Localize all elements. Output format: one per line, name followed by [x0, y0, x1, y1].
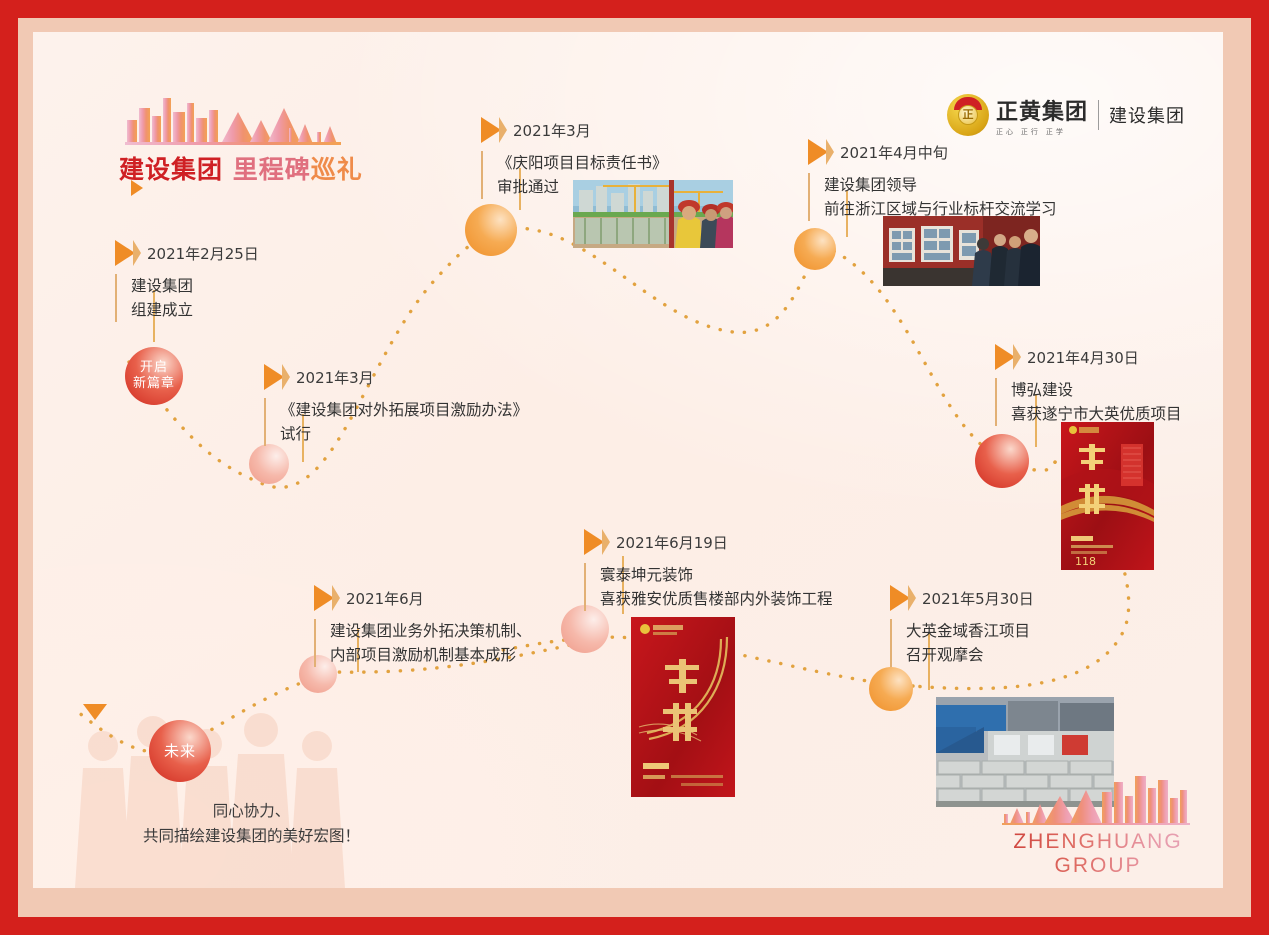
flag-icon [584, 529, 604, 555]
milestone-founding: 2021年2月25日 建设集团 组建成立 [115, 240, 259, 322]
milestone-body: 建设集团业务外拓决策机制、 内部项目激励机制基本成形 [314, 619, 532, 667]
milestone-line-1: 建设集团业务外拓决策机制、 [330, 619, 532, 643]
milestone-date: 2021年5月30日 [922, 588, 1034, 609]
milestone-bohong-daying: 2021年4月30日 博弘建设 喜获遂宁市大英优质项目 [995, 344, 1182, 426]
crowd-silhouette [61, 688, 381, 888]
footer-skyline-icon [998, 770, 1198, 828]
milestone-line-1: 大英金域香江项目 [906, 619, 1034, 643]
milestone-daying-jinyu: 2021年5月30日 大英金域香江项目 召开观摩会 [890, 585, 1034, 667]
brand-name: 正黄集团 [996, 94, 1088, 126]
node-daying-jinyu [869, 667, 913, 711]
milestone-line-1: 寰泰坤元装饰 [600, 563, 833, 587]
chevron-icon [826, 139, 834, 165]
start-node-label: 开启 新篇章 [125, 347, 183, 405]
node-bohong-daying [975, 434, 1029, 488]
milestone-date: 2021年2月25日 [147, 243, 259, 264]
closing-text: 同心协力、 共同描绘建设集团的美好宏图！ [143, 799, 360, 849]
milestone-date-row: 2021年3月 [264, 364, 528, 390]
flag-icon [995, 344, 1015, 370]
milestone-date-row: 2021年4月30日 [995, 344, 1182, 370]
flag-icon [115, 240, 135, 266]
timeline-end-arrow-icon [83, 704, 107, 720]
milestone-body: 建设集团领导 前往浙江区域与行业标杆交流学习 [808, 173, 1057, 221]
footer-logo: ZHENGHUANG GROUP [983, 770, 1213, 878]
construction-site-photo [573, 180, 733, 248]
milestone-line-2: 喜获雅安优质售楼部内外装饰工程 [600, 587, 833, 611]
milestone-mechanism-formed: 2021年6月 建设集团业务外拓决策机制、 内部项目激励机制基本成形 [314, 585, 532, 667]
milestone-date: 2021年6月19日 [616, 532, 728, 553]
closing-line-1: 同心协力、 [143, 799, 360, 824]
skyline-icon [121, 94, 346, 146]
flag-icon [314, 585, 334, 611]
milestone-date-row: 2021年6月19日 [584, 529, 833, 555]
title-arrow-icon [131, 180, 143, 196]
node-incentive-policy [249, 444, 289, 484]
footer-brand-name: ZHENGHUANG GROUP [983, 830, 1213, 878]
milestone-line-1: 建设集团 [131, 274, 259, 298]
chevron-icon [282, 364, 290, 390]
chevron-icon [499, 117, 507, 143]
milestone-date-row: 2021年6月 [314, 585, 532, 611]
start-node: 开启 新篇章 [125, 347, 183, 405]
milestone-date: 2021年4月中旬 [840, 142, 948, 163]
chevron-icon [908, 585, 916, 611]
flag-icon [890, 585, 910, 611]
milestone-date-row: 2021年2月25日 [115, 240, 259, 266]
brand-logo: 正 正黄集团 正心 正行 正学 建设集团 [947, 92, 1185, 138]
milestone-date: 2021年6月 [346, 588, 424, 609]
milestone-date: 2021年4月30日 [1027, 347, 1139, 368]
start-node-line2: 新篇章 [133, 376, 175, 392]
node-huantai-yaan [561, 605, 609, 653]
milestone-body: 大英金域香江项目 召开观摩会 [890, 619, 1034, 667]
milestone-date: 2021年3月 [513, 120, 591, 141]
milestone-line-1: 建设集团领导 [824, 173, 1057, 197]
chevron-icon [1013, 344, 1021, 370]
seal-char: 正 [958, 105, 978, 125]
xibao-poster-red: 118 [1061, 422, 1154, 570]
seal-icon: 正 [947, 94, 989, 136]
milestone-body: 博弘建设 喜获遂宁市大英优质项目 [995, 378, 1182, 426]
node-zhejiang-visit [794, 228, 836, 270]
milestone-date-row: 2021年5月30日 [890, 585, 1034, 611]
title-part-2: 里程碑 [223, 155, 311, 184]
milestone-line-1: 《庆阳项目目标责任书》 [497, 151, 668, 175]
milestone-body: 寰泰坤元装饰 喜获雅安优质售楼部内外装饰工程 [584, 563, 833, 611]
xibao-poster-gold [631, 617, 735, 797]
milestone-huantai-yaan: 2021年6月19日 寰泰坤元装饰 喜获雅安优质售楼部内外装饰工程 [584, 529, 833, 611]
brand-divider [1098, 100, 1099, 130]
milestone-date-row: 2021年4月中旬 [808, 139, 1057, 165]
exhibition-visit-photo [883, 216, 1040, 286]
milestone-line-1: 博弘建设 [1011, 378, 1182, 402]
chevron-icon [602, 529, 610, 555]
milestone-date: 2021年3月 [296, 367, 374, 388]
flag-icon [264, 364, 284, 390]
brand-slogan: 正心 正行 正学 [996, 127, 1088, 137]
node-qingyang-approval [465, 204, 517, 256]
milestone-zhejiang-visit: 2021年4月中旬 建设集团领导 前往浙江区域与行业标杆交流学习 [808, 139, 1057, 221]
chevron-icon [332, 585, 340, 611]
chevron-icon [133, 240, 141, 266]
closing-line-2: 共同描绘建设集团的美好宏图！ [143, 824, 360, 849]
svg-text:118: 118 [1075, 555, 1096, 568]
milestone-date-row: 2021年3月 [481, 117, 668, 143]
milestone-body: 建设集团 组建成立 [115, 274, 259, 322]
poster-panel: 建设集团 里程碑巡礼 正 正黄集团 正心 正行 正学 建设集团 [33, 32, 1223, 888]
brand-unit: 建设集团 [1109, 102, 1185, 128]
milestone-body: 《建设集团对外拓展项目激励办法》 试行 [264, 398, 528, 446]
flag-icon [481, 117, 501, 143]
flag-icon [808, 139, 828, 165]
start-node-line1: 开启 [140, 360, 168, 376]
title-part-3: 巡礼 [311, 155, 363, 184]
future-node: 未来 [149, 720, 211, 782]
milestone-line-1: 《建设集团对外拓展项目激励办法》 [280, 398, 528, 422]
page-title: 建设集团 里程碑巡礼 [119, 150, 363, 186]
poster-root: 建设集团 里程碑巡礼 正 正黄集团 正心 正行 正学 建设集团 [0, 0, 1269, 935]
milestone-line-2: 内部项目激励机制基本成形 [330, 643, 532, 667]
milestone-incentive-policy: 2021年3月 《建设集团对外拓展项目激励办法》 试行 [264, 364, 528, 446]
milestone-line-2: 组建成立 [131, 298, 259, 322]
milestone-line-2: 试行 [280, 422, 528, 446]
milestone-line-2: 召开观摩会 [906, 643, 1034, 667]
future-node-label: 未来 [149, 720, 211, 782]
